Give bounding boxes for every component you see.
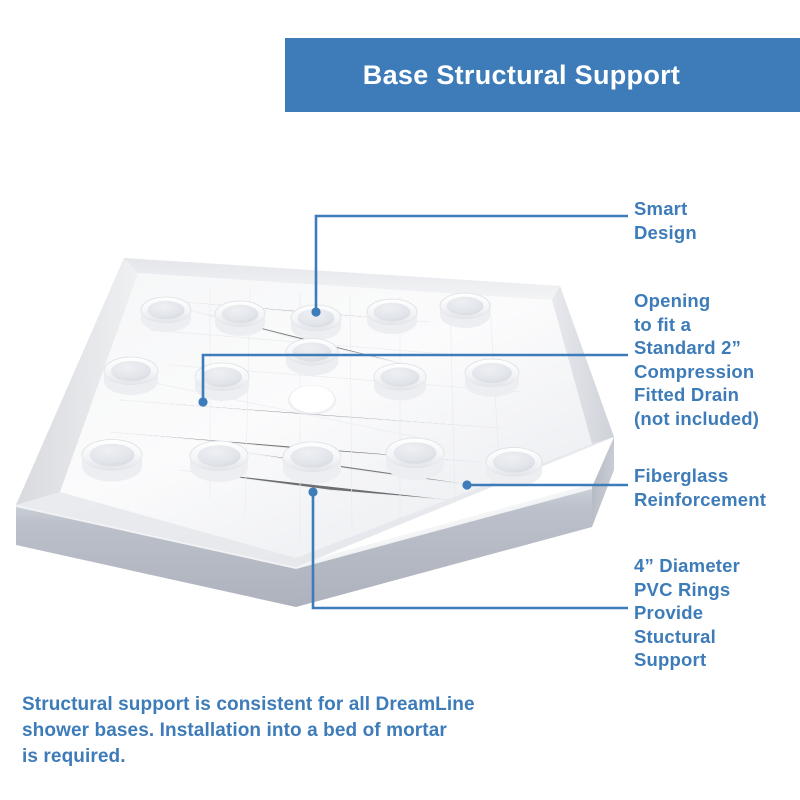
callout-opening: Opening to fit a Standard 2” Compression… (634, 289, 800, 430)
pvc-ring (374, 364, 426, 401)
pvc-ring (82, 440, 142, 482)
pvc-ring (486, 448, 542, 487)
pvc-ring (283, 442, 341, 484)
callout-smart-design: Smart Design (634, 197, 800, 244)
pvc-ring (440, 293, 490, 328)
pvc-ring (190, 441, 248, 482)
pvc-ring (286, 339, 338, 376)
callout-fiberglass: Fiberglass Reinforcement (634, 464, 800, 511)
pvc-ring (291, 305, 341, 340)
page-title: Base Structural Support (363, 60, 722, 91)
pvc-ring (104, 357, 158, 395)
infographic-page: Base Structural Support Smart Design Ope… (0, 0, 800, 800)
bottom-caption: Structural support is consistent for all… (22, 692, 562, 770)
callout-pvc-rings: 4” Diameter PVC Rings Provide Stuctural … (634, 554, 800, 672)
pvc-ring (386, 438, 444, 480)
drain-opening (288, 385, 336, 415)
pvc-ring (215, 301, 265, 336)
header-banner: Base Structural Support (285, 38, 800, 112)
pvc-ring (141, 297, 191, 332)
base-right-face (592, 437, 614, 527)
pvc-ring (465, 359, 519, 397)
pvc-ring (195, 363, 249, 401)
pvc-ring (367, 299, 417, 334)
